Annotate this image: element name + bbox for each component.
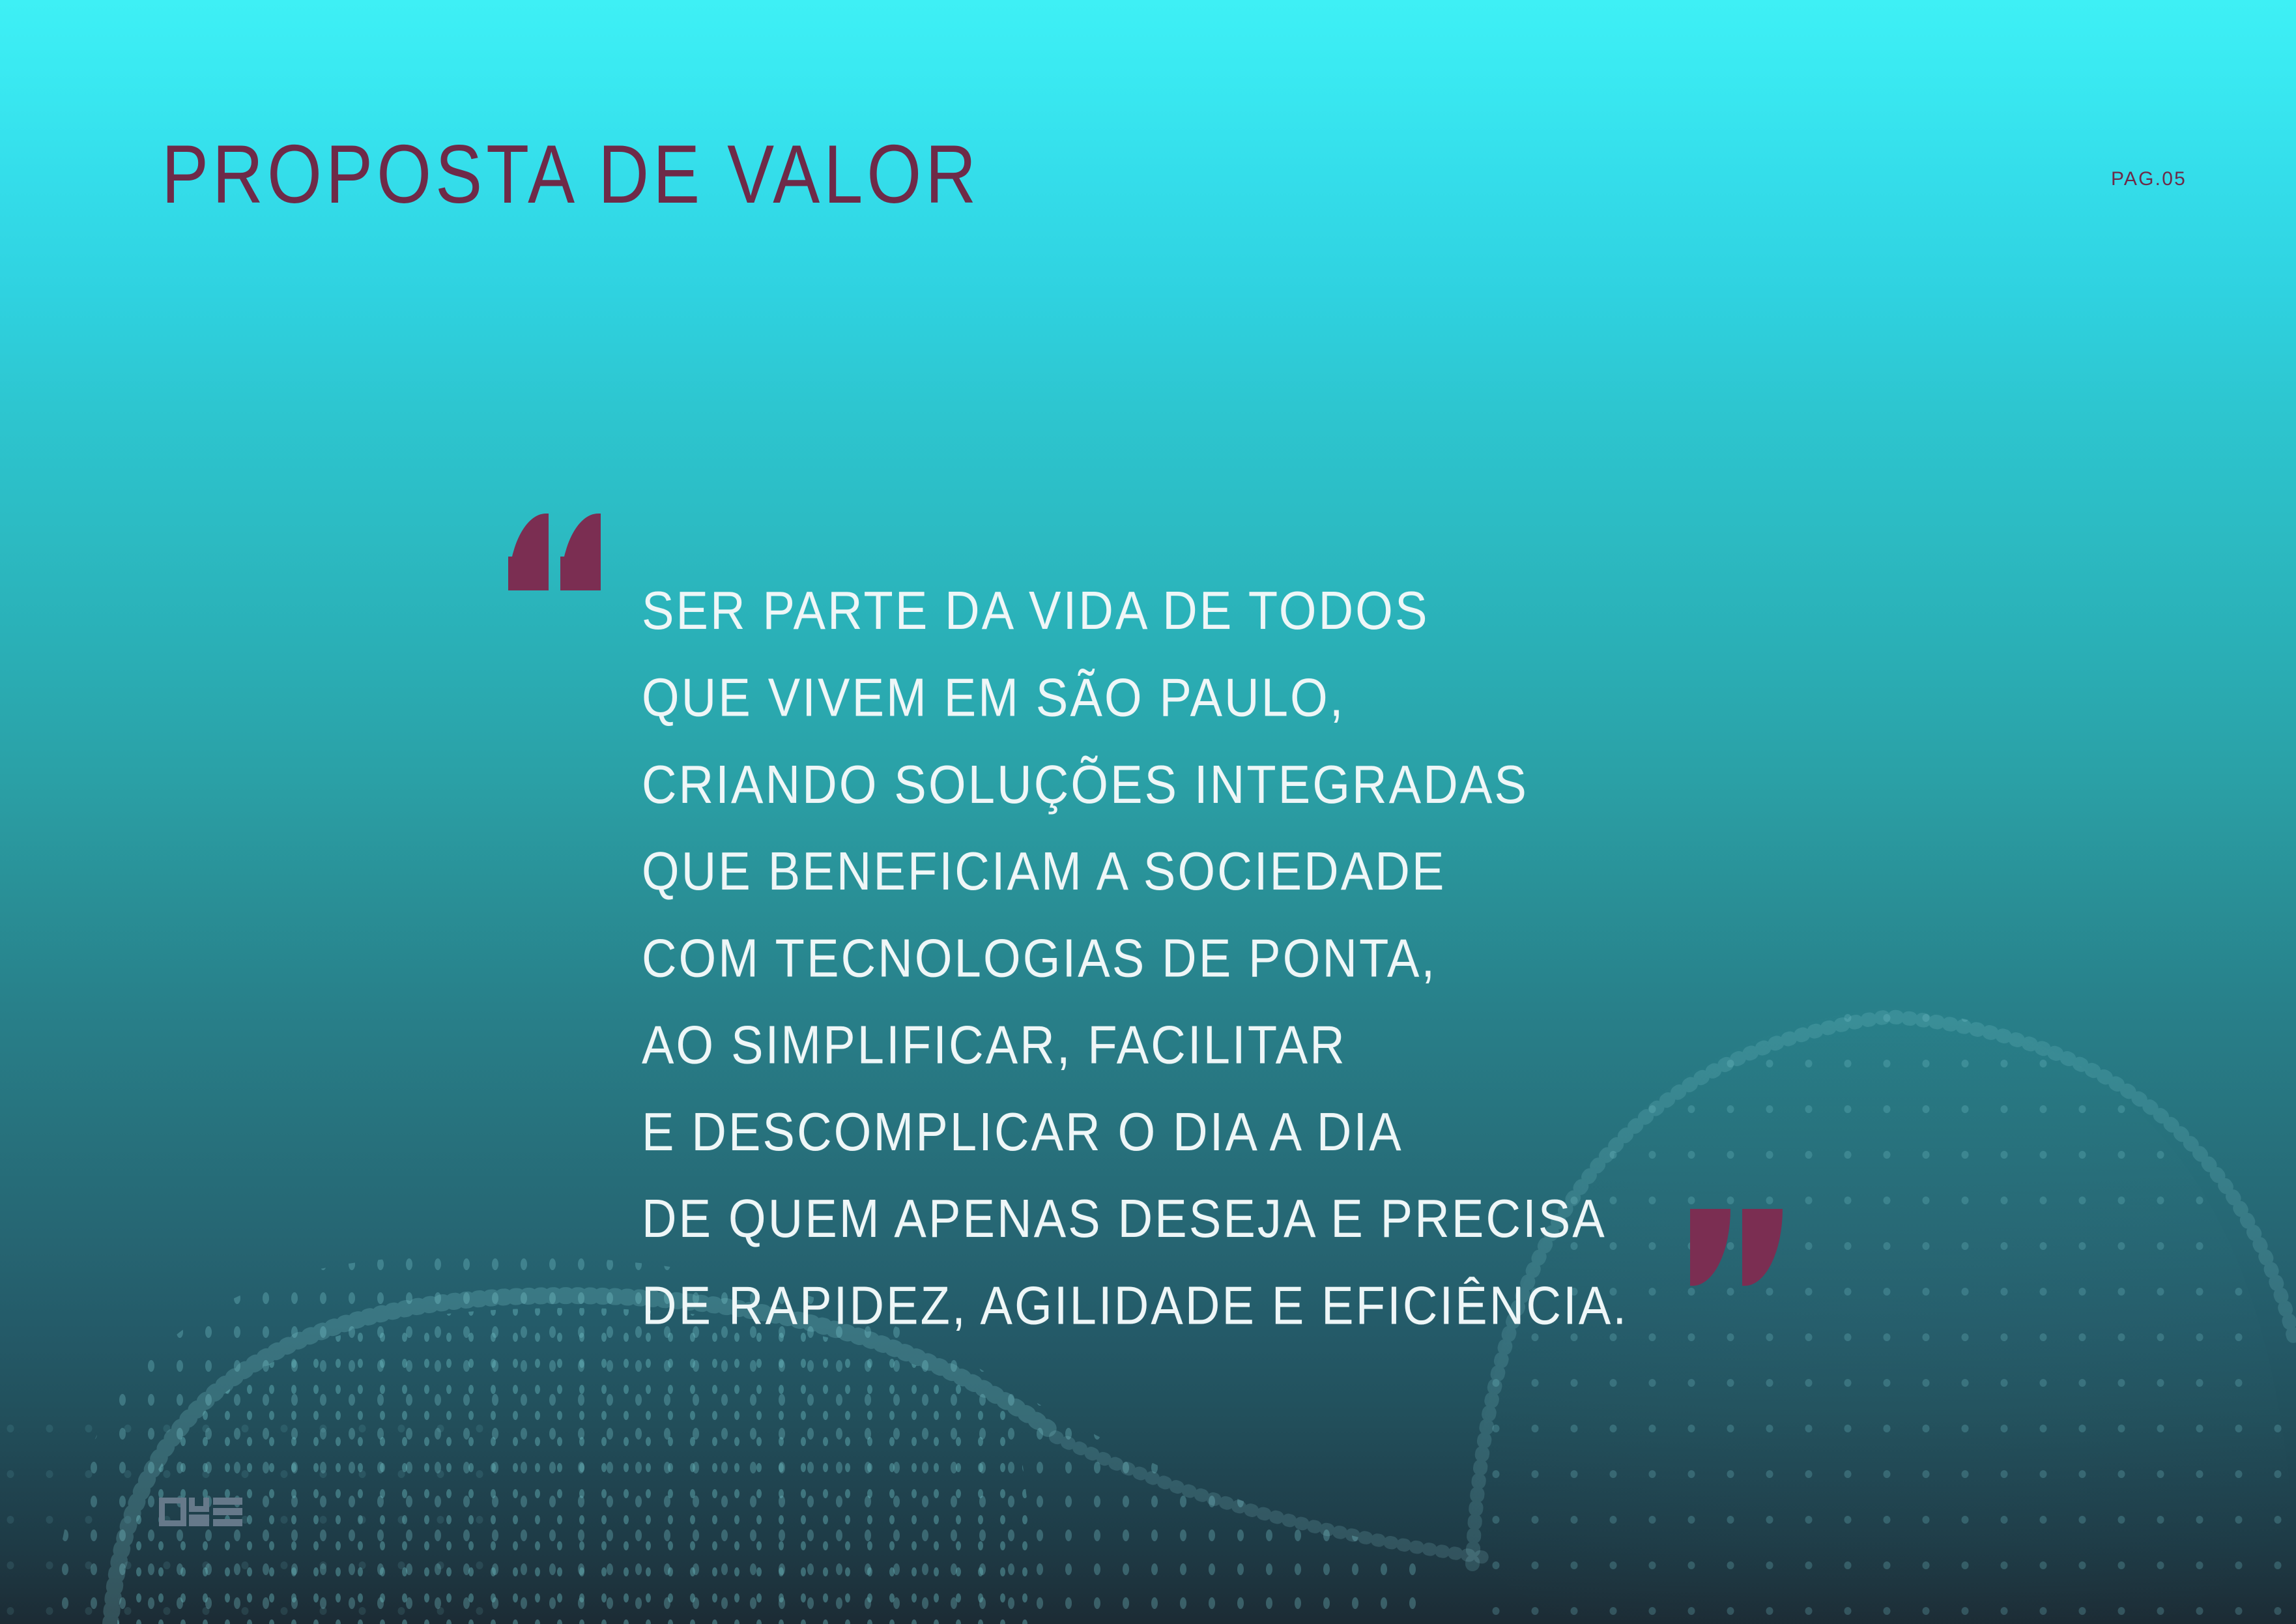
quote-line: QUE VIVEM EM SÃO PAULO,	[642, 654, 1628, 740]
page-number-label: PAG.05	[2111, 168, 2187, 190]
quote-glyph-left	[1690, 1209, 1730, 1286]
slide-canvas: PROPOSTA DE VALOR PAG.05 SER PARTE DA VI…	[0, 0, 2296, 1624]
page-title: PROPOSTA DE VALOR	[162, 130, 980, 218]
quote-line: CRIANDO SOLUÇÕES INTEGRADAS	[642, 741, 1628, 828]
quote-line: COM TECNOLOGIAS DE PONTA,	[642, 914, 1628, 1001]
quote-line: DE QUEM APENAS DESEJA E PRECISA	[642, 1175, 1628, 1262]
closing-quote-icon	[1690, 1209, 1783, 1286]
quote-line: AO SIMPLIFICAR, FACILITAR	[642, 1001, 1628, 1088]
quote-line: DE RAPIDEZ, AGILIDADE E EFICIÊNCIA.	[642, 1262, 1628, 1348]
quote-line: E DESCOMPLICAR O DIA A DIA	[642, 1088, 1628, 1175]
opening-quote-icon	[508, 514, 601, 590]
quote-glyph-right	[560, 514, 601, 590]
quote-text-block: SER PARTE DA VIDA DE TODOS QUE VIVEM EM …	[642, 567, 1628, 1349]
quote-glyph-right	[1742, 1209, 1783, 1286]
quote-line: QUE BENEFICIAM A SOCIEDADE	[642, 828, 1628, 914]
oye-logo-icon	[159, 1498, 242, 1526]
quote-glyph-left	[508, 514, 549, 590]
quote-line: SER PARTE DA VIDA DE TODOS	[642, 567, 1628, 654]
